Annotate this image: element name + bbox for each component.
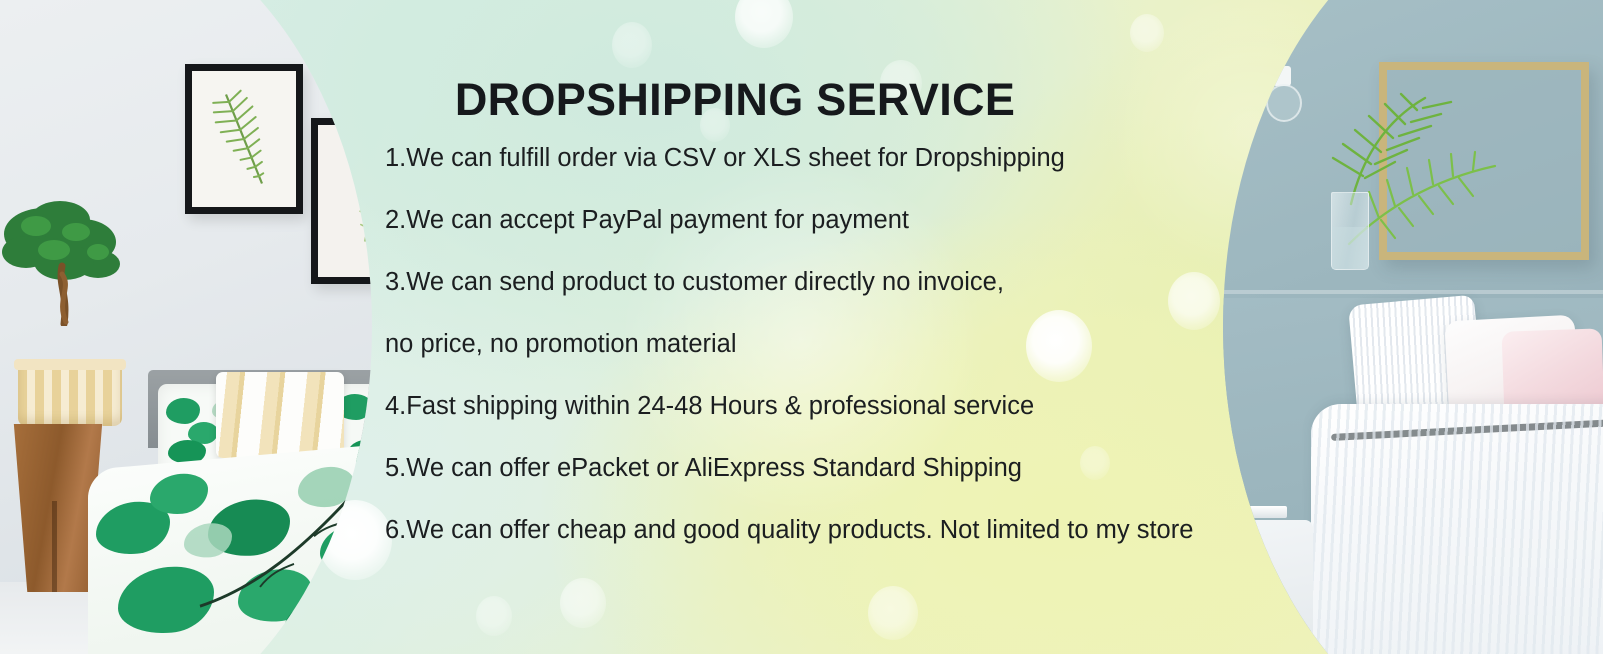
- page-title: DROPSHIPPING SERVICE: [385, 74, 1085, 126]
- white-duvet: [1311, 404, 1603, 654]
- list-item: 1.We can fulfill order via CSV or XLS sh…: [385, 146, 1193, 172]
- striped-cushion: [216, 372, 344, 458]
- vase-water: [1332, 227, 1368, 269]
- list-item: no price, no promotion material: [385, 332, 1193, 358]
- woven-basket: [18, 364, 122, 426]
- wall-ledge: [1203, 290, 1603, 294]
- glass-vase: [1331, 192, 1369, 270]
- gold-picture-frame: [1379, 62, 1589, 260]
- dropshipping-service-banner: DROPSHIPPING SERVICE 1.We can fulfill or…: [0, 0, 1603, 654]
- fern-leaf-icon: [196, 79, 292, 199]
- list-item: 6.We can offer cheap and good quality pr…: [385, 518, 1193, 544]
- list-item: 2.We can accept PayPal payment for payme…: [385, 208, 1193, 234]
- feature-list: 1.We can fulfill order via CSV or XLS sh…: [385, 146, 1193, 580]
- list-item: 5.We can offer ePacket or AliExpress Sta…: [385, 456, 1193, 482]
- list-item: 4.Fast shipping within 24-48 Hours & pro…: [385, 394, 1193, 420]
- list-item: 3.We can send product to customer direct…: [385, 270, 1193, 296]
- text-content: DROPSHIPPING SERVICE 1.We can fulfill or…: [385, 0, 1225, 654]
- fern-picture-frame: [185, 64, 303, 214]
- duvet-stripes: [1311, 404, 1603, 654]
- bonsai-plant: [2, 196, 130, 326]
